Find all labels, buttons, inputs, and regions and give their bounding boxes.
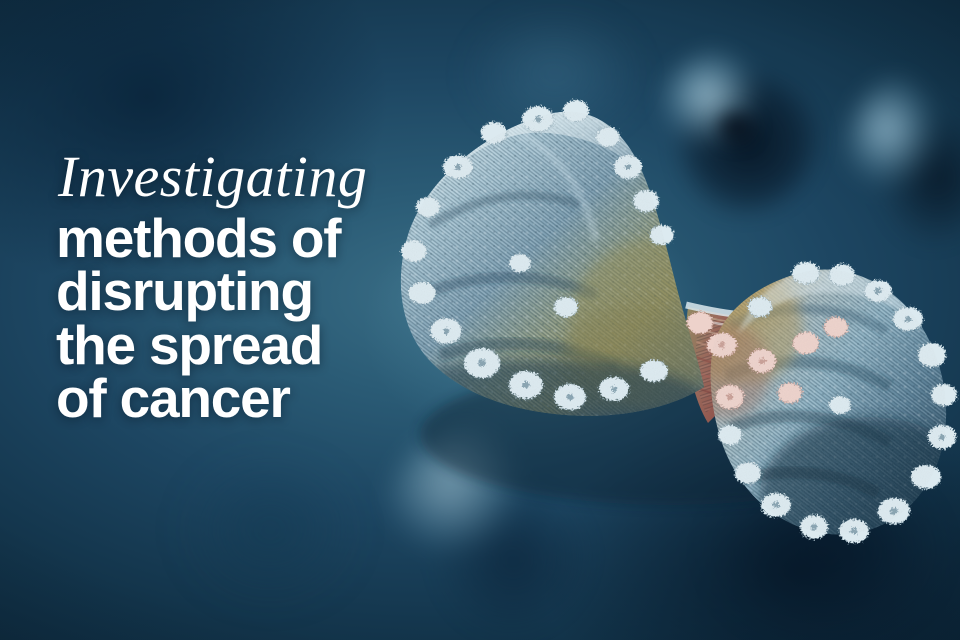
headline-script-line: Investigating [58, 148, 476, 206]
headline-bold-line-1: methods of [56, 212, 476, 265]
headline-bold-line-3: the spread [56, 319, 476, 372]
headline-bold-line-2: disrupting [56, 265, 476, 318]
headline-block: Investigating methods of disrupting the … [56, 148, 476, 425]
banner-image: Investigating methods of disrupting the … [0, 0, 960, 640]
headline-bold-line-4: of cancer [56, 372, 476, 425]
